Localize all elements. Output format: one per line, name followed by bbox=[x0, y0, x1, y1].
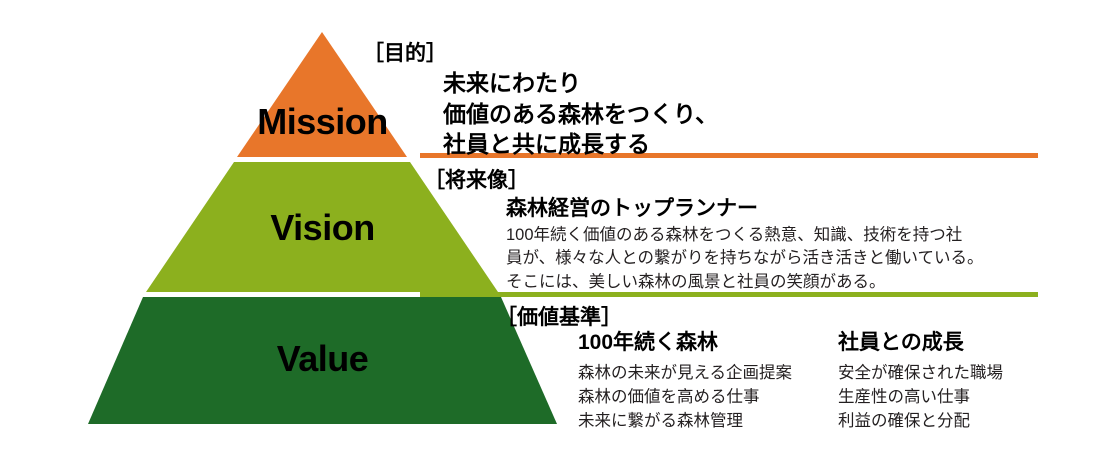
value-item: 生産性の高い仕事 bbox=[838, 386, 1048, 410]
value-column-heading: 社員との成長 bbox=[838, 332, 1048, 353]
mission-line: 社員と共に成長する bbox=[443, 129, 718, 160]
value-item: 森林の未来が見える企画提案 bbox=[578, 362, 788, 386]
vision-line: 員が、様々な人との繋がりを持ちながら活き活きと働いている。 bbox=[506, 247, 1046, 270]
value-columns: 100年続く森林 森林の未来が見える企画提案 森林の価値を高める仕事 未来に繋が… bbox=[578, 332, 1048, 434]
value-item: 利益の確保と分配 bbox=[838, 410, 1048, 434]
value-item: 未来に繋がる森林管理 bbox=[578, 410, 788, 434]
vision-line: 100年続く価値のある森林をつくる熱意、知識、技術を持つ社 bbox=[506, 224, 1046, 247]
mission-line: 価値のある森林をつくり、 bbox=[443, 99, 718, 130]
bracket-label-mission: ［目的］ bbox=[363, 43, 447, 64]
vision-line: そこには、美しい森林の風景と社員の笑顔がある。 bbox=[506, 271, 1046, 294]
value-column-items: 森林の未来が見える企画提案 森林の価値を高める仕事 未来に繋がる森林管理 bbox=[578, 362, 788, 434]
value-column-items: 安全が確保された職場 生産性の高い仕事 利益の確保と分配 bbox=[838, 362, 1048, 434]
diagram-canvas: Mission Vision Value ［目的］ 未来にわたり 価値のある森林… bbox=[0, 0, 1120, 455]
mission-statement: 未来にわたり 価値のある森林をつくり、 社員と共に成長する bbox=[443, 68, 718, 160]
value-column: 100年続く森林 森林の未来が見える企画提案 森林の価値を高める仕事 未来に繋が… bbox=[578, 332, 788, 434]
bracket-label-vision: ［将来像］ bbox=[424, 170, 529, 191]
value-column-heading: 100年続く森林 bbox=[578, 332, 788, 353]
mission-line: 未来にわたり bbox=[443, 68, 718, 99]
vision-description: 100年続く価値のある森林をつくる熱意、知識、技術を持つ社 員が、様々な人との繋… bbox=[506, 224, 1046, 294]
bracket-label-value: ［価値基準］ bbox=[496, 307, 622, 328]
value-column: 社員との成長 安全が確保された職場 生産性の高い仕事 利益の確保と分配 bbox=[838, 332, 1048, 434]
vision-heading: 森林経営のトップランナー bbox=[506, 198, 758, 219]
tier-label-value: Value bbox=[0, 341, 645, 377]
value-item: 安全が確保された職場 bbox=[838, 362, 1048, 386]
value-item: 森林の価値を高める仕事 bbox=[578, 386, 788, 410]
